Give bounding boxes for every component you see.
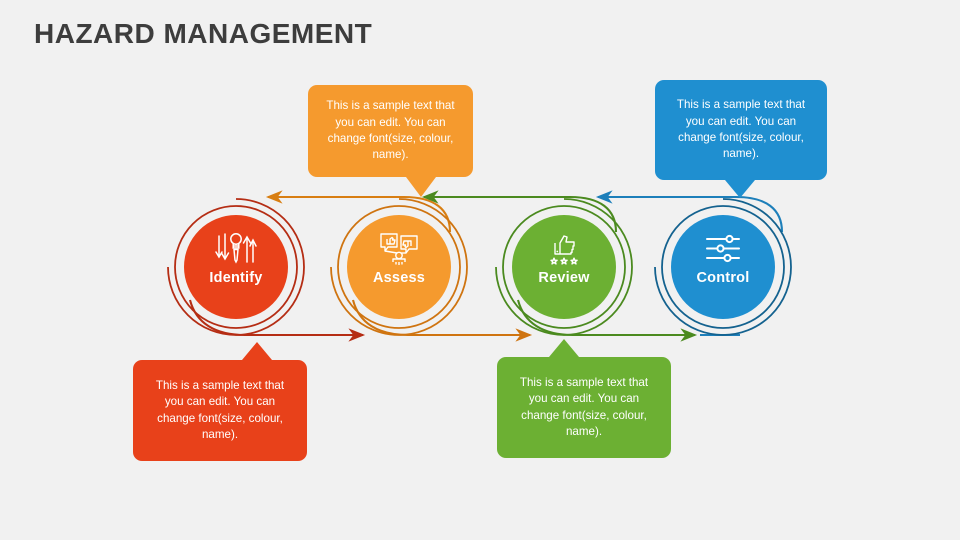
stage-node-identify[interactable]: Identify [184, 215, 288, 319]
stage-label-assess: Assess [373, 270, 425, 286]
stage-node-assess[interactable]: Assess [347, 215, 451, 319]
callout-review-bottom-text: This is a sample text that you can edit.… [509, 375, 659, 441]
stage-node-control[interactable]: Control [671, 215, 775, 319]
stage-label-identify: Identify [209, 270, 262, 286]
callout-control-top[interactable]: This is a sample text that you can edit.… [655, 80, 827, 180]
callout-identify-bottom-text: This is a sample text that you can edit.… [145, 378, 295, 444]
callout-control-top-text: This is a sample text that you can edit.… [667, 97, 815, 163]
feedback-bubbles-icon [377, 232, 421, 266]
callout-review-bottom-tail [549, 339, 579, 357]
thumbs-up-stars-icon [542, 232, 586, 266]
stage-label-control: Control [697, 270, 750, 286]
callout-assess-top-text: This is a sample text that you can edit.… [320, 98, 461, 164]
stage-label-review: Review [538, 270, 589, 286]
callout-assess-top[interactable]: This is a sample text that you can edit.… [308, 85, 473, 177]
callout-review-bottom[interactable]: This is a sample text that you can edit.… [497, 357, 671, 458]
callout-assess-top-tail [406, 177, 436, 197]
slide-canvas: HAZARD MANAGEMENT [0, 0, 960, 540]
callout-identify-bottom-tail [242, 342, 272, 360]
callout-identify-bottom[interactable]: This is a sample text that you can edit.… [133, 360, 307, 461]
callout-control-top-tail [725, 180, 755, 198]
stage-node-review[interactable]: Review [512, 215, 616, 319]
sliders-settings-icon [701, 232, 745, 266]
risk-arrows-bulb-icon [214, 232, 258, 266]
